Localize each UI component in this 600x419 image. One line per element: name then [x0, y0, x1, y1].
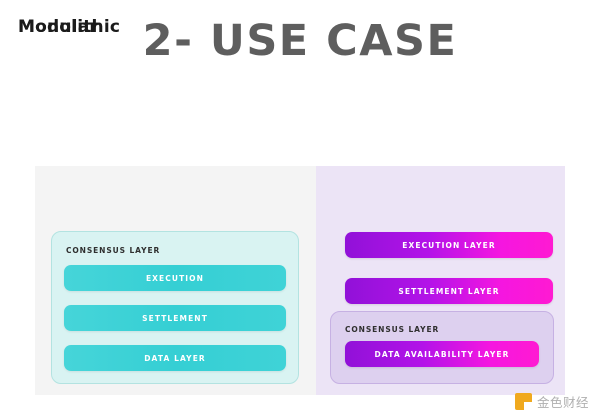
panel-heading-modular: Modular [18, 17, 98, 37]
layer-data-monolithic: DATA LAYER [64, 345, 286, 371]
layer-data-availability-modular: DATA AVAILABILITY LAYER [345, 341, 539, 367]
layer-settlement-modular: SETTLEMENT LAYER [345, 278, 553, 304]
consensus-layer-label-modular: CONSENSUS LAYER [345, 325, 439, 334]
layer-settlement-monolithic: SETTLEMENT [64, 305, 286, 331]
consensus-layer-label-monolithic: CONSENSUS LAYER [66, 246, 160, 255]
watermark-text: 金色财经 [537, 392, 589, 411]
layer-execution-monolithic: EXECUTION [64, 265, 286, 291]
watermark-logo-icon [515, 393, 532, 410]
watermark: 金色财经 [515, 392, 589, 411]
layer-execution-modular: EXECUTION LAYER [345, 232, 553, 258]
